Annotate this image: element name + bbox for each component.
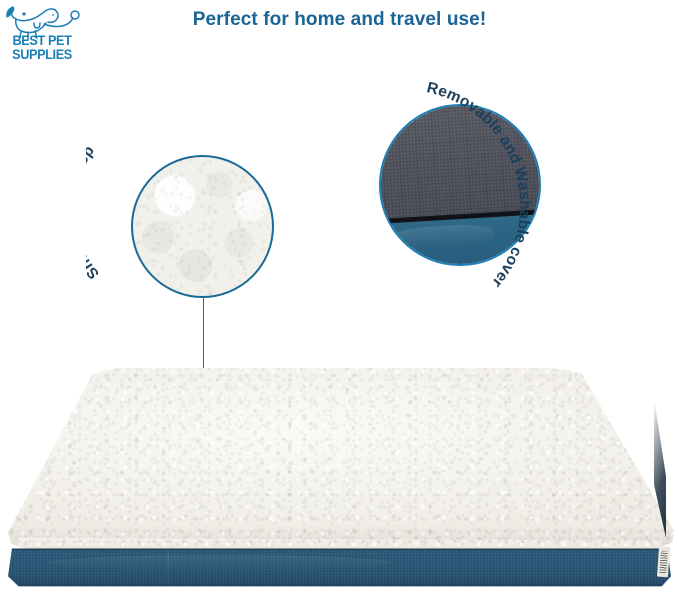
leader-line-stem (203, 296, 205, 374)
logo-wordmark: BEST PET SUPPLIES (5, 34, 79, 61)
infographic-canvas: BEST PET SUPPLIES Perfect for home and t… (0, 0, 679, 593)
headline-text: Perfect for home and travel use! (0, 9, 679, 31)
bed-top-shading (0, 366, 679, 558)
callout-circle-sherpa-fleece (131, 155, 274, 298)
cover-mesh-texture (379, 104, 541, 225)
brand-care-label-tag (657, 547, 670, 578)
sherpa-fleece-texture (133, 157, 272, 296)
svg-text:Sherpa Fleece top: Sherpa Fleece top (86, 143, 103, 283)
pet-bed-product-image (0, 366, 679, 588)
logo-line-1: BEST PET (7, 34, 77, 48)
logo-line-2: SUPPLIES (7, 48, 77, 62)
sherpa-label-text: Sherpa Fleece top (86, 143, 103, 283)
bed-base-fold-left (167, 550, 169, 582)
care-label-text-lines (659, 551, 668, 573)
bed-navy-base (8, 546, 671, 588)
bed-base-fold-right (459, 550, 461, 582)
callout-circle-removable-cover (379, 104, 541, 266)
